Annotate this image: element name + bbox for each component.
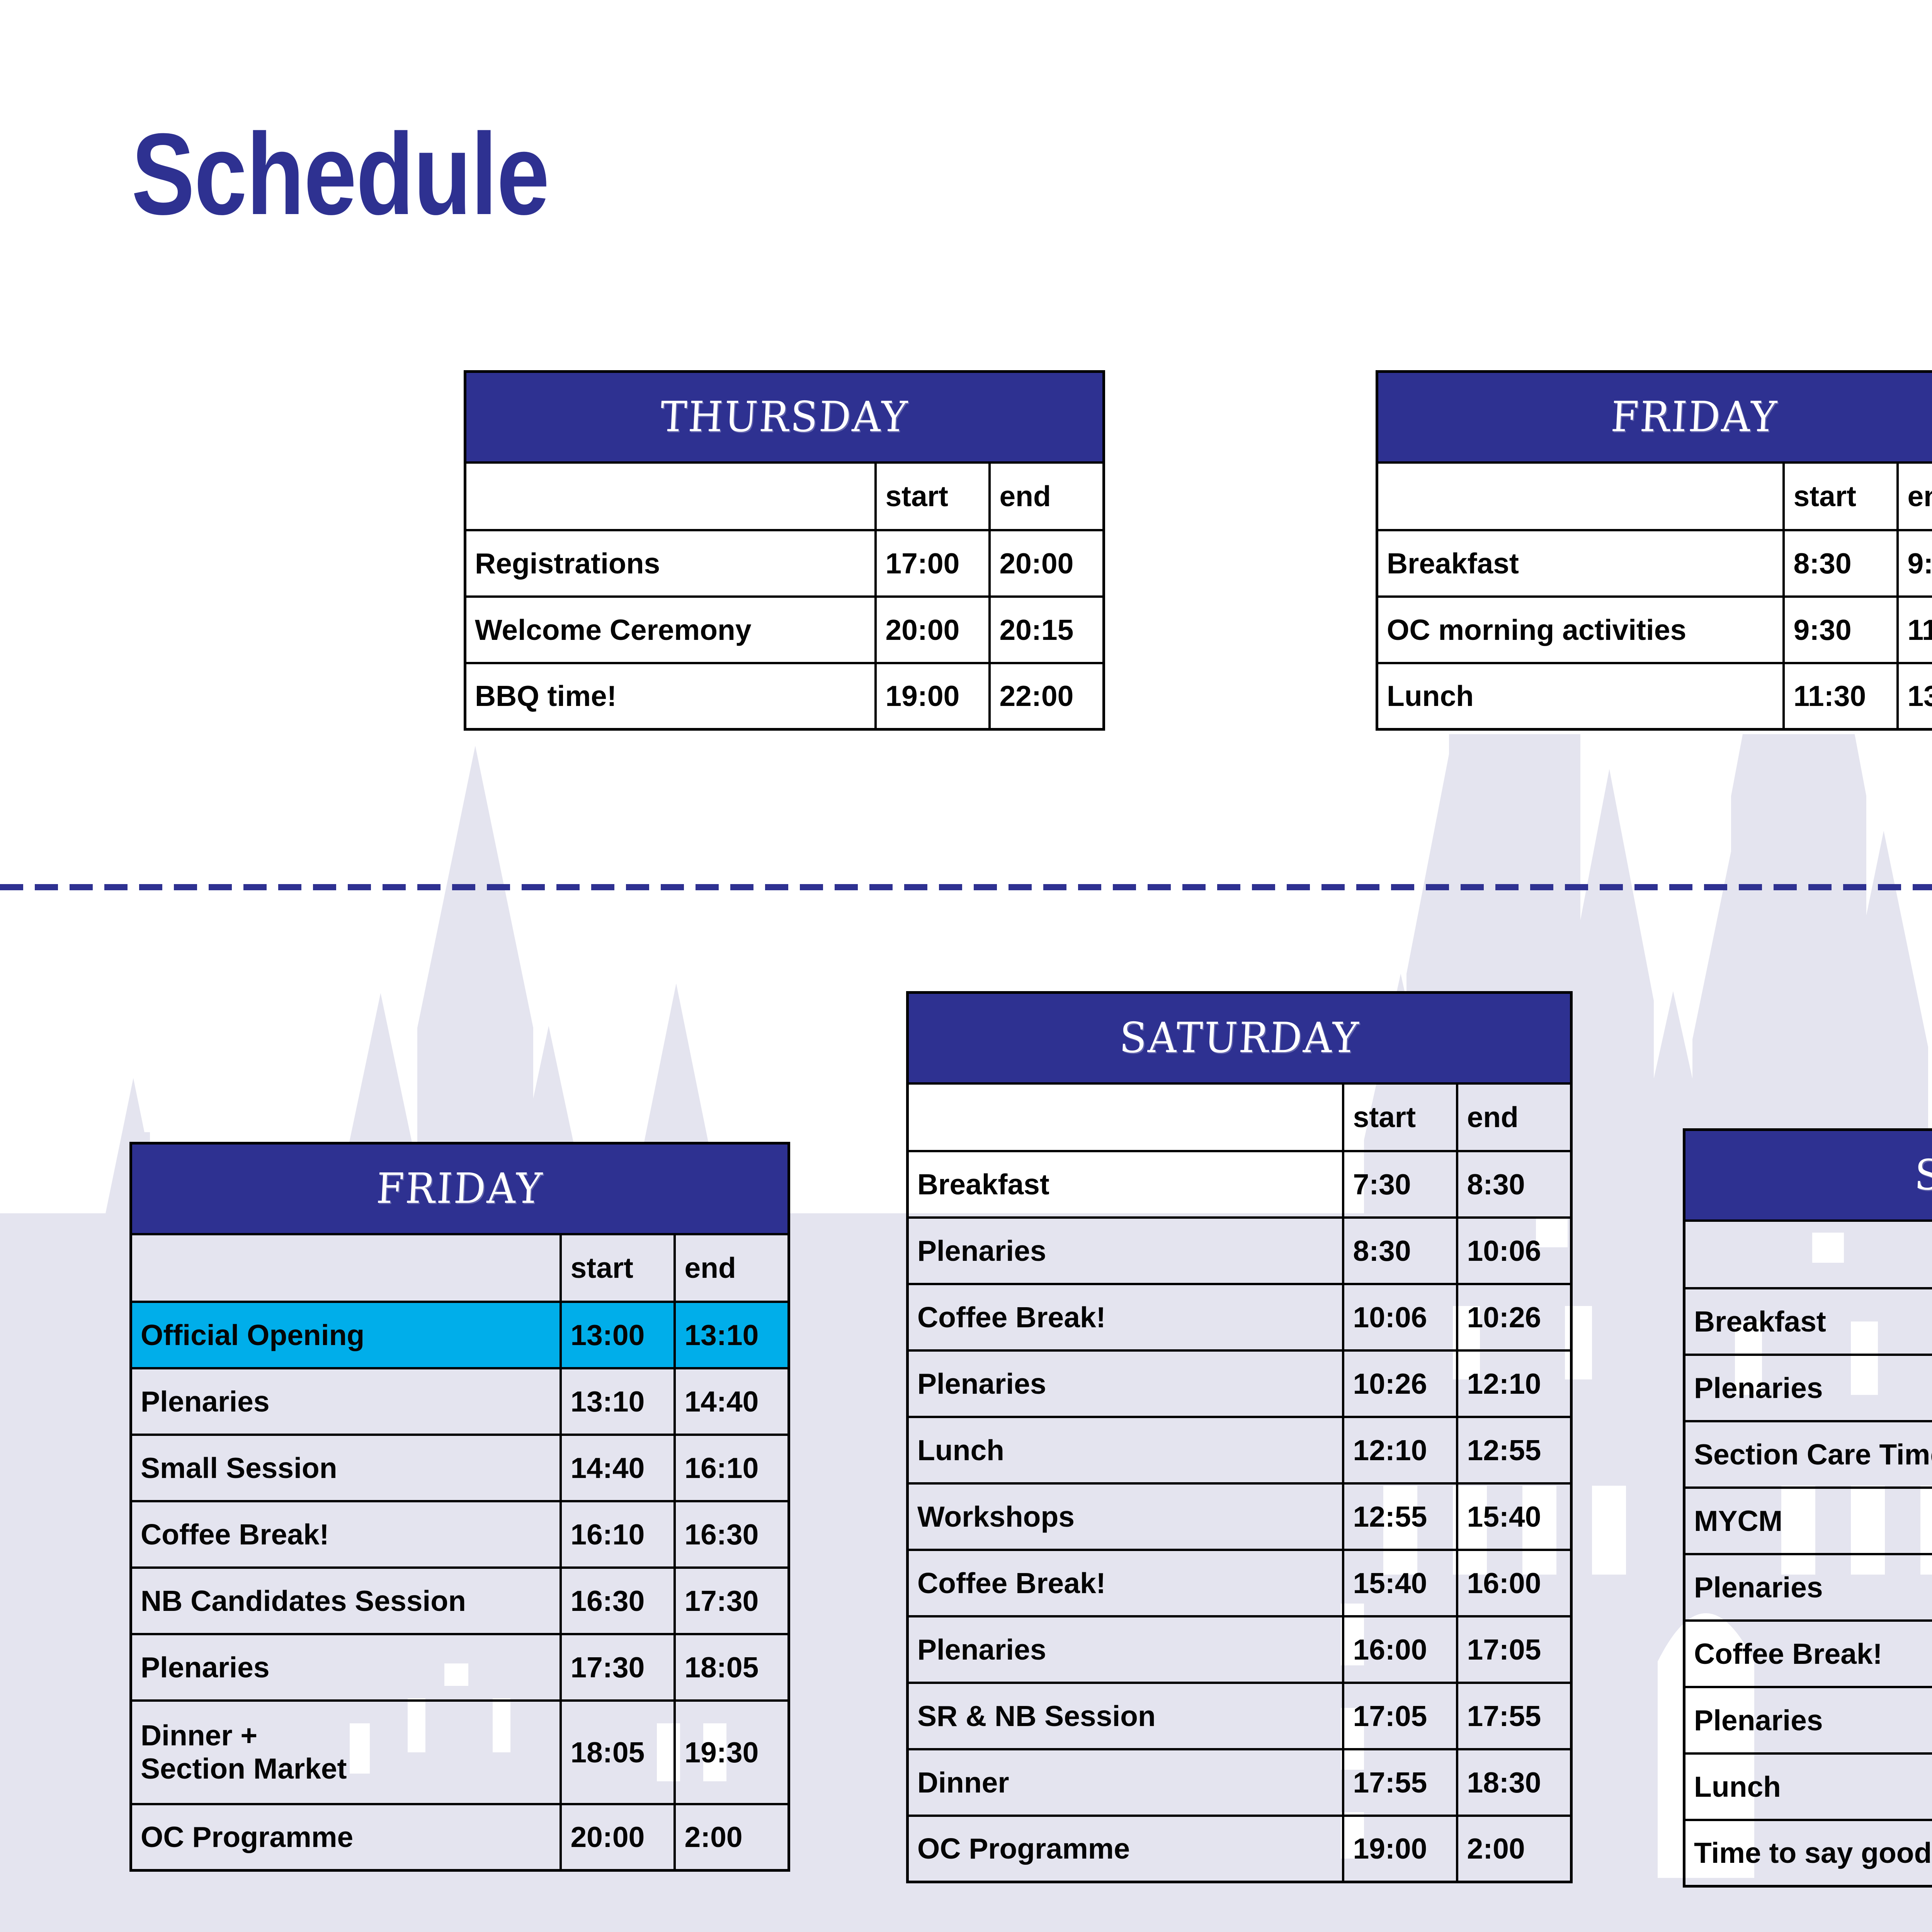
schedule-row: Dinner17:5518:30 <box>908 1749 1571 1816</box>
activity-cell: Dinner <box>908 1749 1344 1816</box>
start-time-cell: 20:00 <box>876 597 990 663</box>
end-time-cell: 13:00 <box>1898 663 1932 730</box>
start-time-cell: 17:55 <box>1343 1749 1457 1816</box>
activity-cell: Welcome Ceremony <box>465 597 876 663</box>
start-time-cell: 12:10 <box>1343 1417 1457 1483</box>
schedule-row: OC Programme19:002:00 <box>908 1816 1571 1882</box>
schedule-row: OC morning activities9:3011:30 <box>1377 597 1932 663</box>
col-header-activity <box>131 1234 561 1302</box>
col-header-start: start <box>561 1234 675 1302</box>
day-name: SATURDAY <box>1118 1014 1361 1062</box>
schedule-table-friday-afternoon: FRIDAYstartendOfficial Opening13:0013:10… <box>129 1142 790 1872</box>
schedule-row: Breakfast7:308:30 <box>908 1151 1571 1218</box>
day-header-cell: SUNDAY <box>1684 1130 1932 1221</box>
end-time-cell: 18:05 <box>675 1634 789 1701</box>
day-header-cell: FRIDAY <box>131 1143 789 1234</box>
schedule-row: Breakfast8:309:30 <box>1377 530 1932 597</box>
activity-cell: Plenaries <box>908 1616 1344 1683</box>
end-time-cell: 11:30 <box>1898 597 1932 663</box>
start-time-cell: 16:30 <box>561 1568 675 1634</box>
end-time-cell: 17:55 <box>1457 1683 1571 1749</box>
column-header-row: startend <box>131 1234 789 1302</box>
column-header-row: startend <box>1684 1221 1932 1288</box>
schedule-row: Section Care Time9:1510:00 <box>1684 1421 1932 1488</box>
start-time-cell: 18:05 <box>561 1701 675 1804</box>
schedule-row: Plenaries8:3010:06 <box>908 1218 1571 1284</box>
activity-cell: Coffee Break! <box>908 1284 1344 1350</box>
schedule-row: Coffee Break!10:0610:26 <box>908 1284 1571 1350</box>
activity-cell: Registrations <box>465 530 876 597</box>
day-name: SUNDAY <box>1913 1151 1932 1199</box>
start-time-cell: 8:30 <box>1343 1218 1457 1284</box>
start-time-cell: 16:00 <box>1343 1616 1457 1683</box>
schedule-row: Breakfast8:008:45 <box>1684 1288 1932 1355</box>
activity-cell: Breakfast <box>1377 530 1784 597</box>
schedule-table-sunday: SUNDAYstartendBreakfast8:008:45Plenaries… <box>1683 1128 1932 1888</box>
start-time-cell: 9:30 <box>1784 597 1898 663</box>
schedule-table-friday-morning: FRIDAYstartendBreakfast8:309:30OC mornin… <box>1376 370 1932 731</box>
activity-cell: Dinner +Section Market <box>131 1701 561 1804</box>
activity-cell: NB Candidates Session <box>131 1568 561 1634</box>
schedule-row: Coffee Break!16:1016:30 <box>131 1501 789 1568</box>
start-time-cell: 13:10 <box>561 1368 675 1435</box>
day-name: FRIDAY <box>1610 393 1779 441</box>
activity-cell: Section Care Time <box>1684 1421 1932 1488</box>
table-header-row: SUNDAY <box>1684 1130 1932 1221</box>
col-header-activity <box>1684 1221 1932 1288</box>
activity-cell: Official Opening <box>131 1302 561 1368</box>
schedule-poster: Schedule NATIONAL ASSEMBLY Hrad 2023 off… <box>0 0 1932 1932</box>
start-time-cell: 10:26 <box>1343 1350 1457 1417</box>
end-time-cell: 12:55 <box>1457 1417 1571 1483</box>
column-header-row: startend <box>465 463 1104 530</box>
end-time-cell: 20:00 <box>990 530 1104 597</box>
schedule-row: Time to say goodbye!14:3015:30 <box>1684 1820 1932 1886</box>
end-time-cell: 10:26 <box>1457 1284 1571 1350</box>
start-time-cell: 19:00 <box>876 663 990 730</box>
day-name: THURSDAY <box>659 393 910 441</box>
col-header-activity <box>908 1083 1344 1151</box>
schedule-row: SR & NB Session17:0517:55 <box>908 1683 1571 1749</box>
start-time-cell: 17:30 <box>561 1634 675 1701</box>
column-header-row: startend <box>908 1083 1571 1151</box>
end-time-cell: 8:30 <box>1457 1151 1571 1218</box>
activity-cell: Lunch <box>1684 1753 1932 1820</box>
schedule-row: Plenaries8:459:15 <box>1684 1355 1932 1421</box>
end-time-cell: 22:00 <box>990 663 1104 730</box>
end-time-cell: 20:15 <box>990 597 1104 663</box>
start-time-cell: 16:10 <box>561 1501 675 1568</box>
schedule-row: Plenaries16:0017:05 <box>908 1616 1571 1683</box>
end-time-cell: 16:10 <box>675 1435 789 1501</box>
schedule-row: Small Session14:4016:10 <box>131 1435 789 1501</box>
end-time-cell: 19:30 <box>675 1701 789 1804</box>
start-time-cell: 19:00 <box>1343 1816 1457 1882</box>
activity-cell: Plenaries <box>908 1350 1344 1417</box>
activity-cell: BBQ time! <box>465 663 876 730</box>
table-header-row: THURSDAY <box>465 372 1104 463</box>
activity-cell: OC morning activities <box>1377 597 1784 663</box>
activity-cell: Plenaries <box>908 1218 1344 1284</box>
col-header-start: start <box>876 463 990 530</box>
activity-cell: Plenaries <box>1684 1355 1932 1421</box>
schedule-row: Plenaries11:0011:30 <box>1684 1554 1932 1621</box>
start-time-cell: 12:55 <box>1343 1483 1457 1550</box>
end-time-cell: 2:00 <box>1457 1816 1571 1882</box>
activity-cell: Breakfast <box>908 1151 1344 1218</box>
activity-cell: Plenaries <box>131 1368 561 1435</box>
schedule-row: Lunch11:3013:00 <box>1377 663 1932 730</box>
activity-cell: OC Programme <box>131 1804 561 1871</box>
activity-cell: Lunch <box>1377 663 1784 730</box>
day-header-cell: THURSDAY <box>465 372 1104 463</box>
col-header-activity <box>1377 463 1784 530</box>
schedule-table-thursday: THURSDAYstartendRegistrations17:0020:00W… <box>464 370 1105 731</box>
day-header-cell: SATURDAY <box>908 993 1571 1083</box>
schedule-row: NB Candidates Session16:3017:30 <box>131 1568 789 1634</box>
activity-cell: Small Session <box>131 1435 561 1501</box>
start-time-cell: 11:30 <box>1784 663 1898 730</box>
activity-cell: SR & NB Session <box>908 1683 1344 1749</box>
schedule-row: Plenaries17:3018:05 <box>131 1634 789 1701</box>
activity-cell: Plenaries <box>1684 1687 1932 1753</box>
start-time-cell: 17:05 <box>1343 1683 1457 1749</box>
schedule-row: Welcome Ceremony20:0020:15 <box>465 597 1104 663</box>
start-time-cell: 13:00 <box>561 1302 675 1368</box>
activity-cell: Plenaries <box>131 1634 561 1701</box>
activity-cell: Coffee Break! <box>908 1550 1344 1616</box>
end-time-cell: 16:00 <box>1457 1550 1571 1616</box>
schedule-table-saturday: SATURDAYstartendBreakfast7:308:30Plenari… <box>906 991 1573 1883</box>
dashed-divider <box>0 884 1932 890</box>
end-time-cell: 2:00 <box>675 1804 789 1871</box>
end-time-cell: 15:40 <box>1457 1483 1571 1550</box>
start-time-cell: 14:40 <box>561 1435 675 1501</box>
activity-cell: Plenaries <box>1684 1554 1932 1621</box>
schedule-row: Registrations17:0020:00 <box>465 530 1104 597</box>
col-header-activity <box>465 463 876 530</box>
activity-cell: Coffee Break! <box>1684 1621 1932 1687</box>
activity-cell: Lunch <box>908 1417 1344 1483</box>
table-header-row: FRIDAY <box>131 1143 789 1234</box>
col-header-end: end <box>1457 1083 1571 1151</box>
end-time-cell: 18:30 <box>1457 1749 1571 1816</box>
activity-cell: Coffee Break! <box>131 1501 561 1568</box>
day-name: FRIDAY <box>375 1165 544 1213</box>
end-time-cell: 14:40 <box>675 1368 789 1435</box>
table-header-row: FRIDAY <box>1377 372 1932 463</box>
schedule-row: Official Opening13:0013:10 <box>131 1302 789 1368</box>
schedule-row: Dinner +Section Market18:0519:30 <box>131 1701 789 1804</box>
end-time-cell: 13:10 <box>675 1302 789 1368</box>
schedule-row: MYCM10:0011:00 <box>1684 1488 1932 1554</box>
start-time-cell: 10:06 <box>1343 1284 1457 1350</box>
end-time-cell: 17:30 <box>675 1568 789 1634</box>
schedule-row: OC Programme20:002:00 <box>131 1804 789 1871</box>
col-header-end: end <box>990 463 1104 530</box>
page-title: Schedule <box>131 116 549 232</box>
schedule-row: Plenaries10:2612:10 <box>908 1350 1571 1417</box>
end-time-cell: 17:05 <box>1457 1616 1571 1683</box>
end-time-cell: 9:30 <box>1898 530 1932 597</box>
end-time-cell: 10:06 <box>1457 1218 1571 1284</box>
end-time-cell: 12:10 <box>1457 1350 1571 1417</box>
col-header-start: start <box>1343 1083 1457 1151</box>
col-header-start: start <box>1784 463 1898 530</box>
activity-cell: Breakfast <box>1684 1288 1932 1355</box>
start-time-cell: 7:30 <box>1343 1151 1457 1218</box>
activity-cell: Time to say goodbye! <box>1684 1820 1932 1886</box>
schedule-row: Lunch13:3514:30 <box>1684 1753 1932 1820</box>
schedule-row: Plenaries13:1014:40 <box>131 1368 789 1435</box>
start-time-cell: 15:40 <box>1343 1550 1457 1616</box>
schedule-row: BBQ time!19:0022:00 <box>465 663 1104 730</box>
schedule-row: Lunch12:1012:55 <box>908 1417 1571 1483</box>
start-time-cell: 20:00 <box>561 1804 675 1871</box>
table-header-row: SATURDAY <box>908 993 1571 1083</box>
schedule-row: Plenaries11:4513:35 <box>1684 1687 1932 1753</box>
activity-cell: OC Programme <box>908 1816 1344 1882</box>
col-header-end: end <box>1898 463 1932 530</box>
day-header-cell: FRIDAY <box>1377 372 1932 463</box>
activity-cell: MYCM <box>1684 1488 1932 1554</box>
schedule-row: Coffee Break!15:4016:00 <box>908 1550 1571 1616</box>
end-time-cell: 16:30 <box>675 1501 789 1568</box>
schedule-row: Workshops12:5515:40 <box>908 1483 1571 1550</box>
activity-cell: Workshops <box>908 1483 1344 1550</box>
start-time-cell: 17:00 <box>876 530 990 597</box>
start-time-cell: 8:30 <box>1784 530 1898 597</box>
col-header-end: end <box>675 1234 789 1302</box>
column-header-row: startend <box>1377 463 1932 530</box>
schedule-row: Coffee Break!11:3011:45 <box>1684 1621 1932 1687</box>
